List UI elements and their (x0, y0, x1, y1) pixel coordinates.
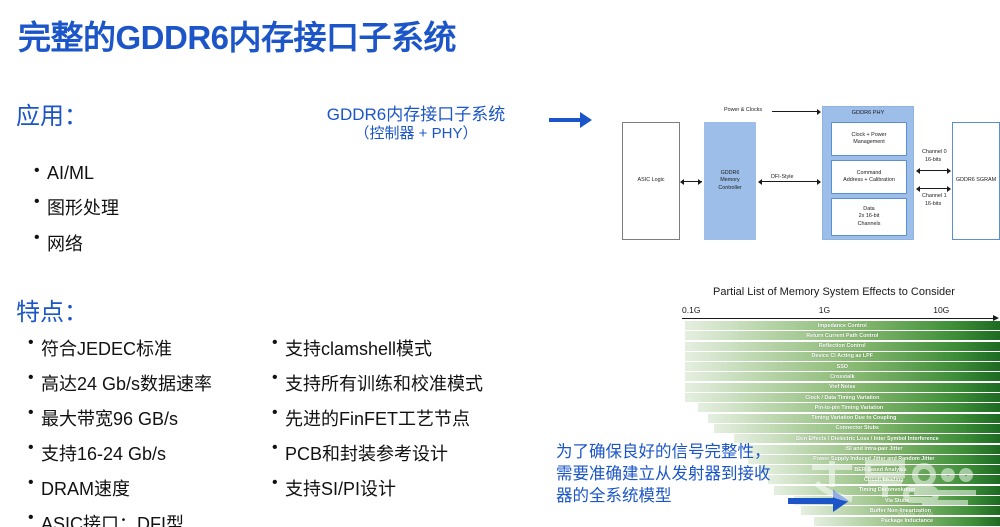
chart-axis-line (682, 318, 994, 319)
chart-bar-label: Circuit Loading (864, 477, 904, 483)
asic-controller-arrow-right-icon (698, 179, 702, 185)
list-item-label: 图形处理 (47, 194, 119, 220)
power-clocks-line (772, 111, 818, 112)
arrow-head (833, 490, 849, 512)
list-item: •DRAM速度 (28, 475, 212, 501)
slide-root: 完整的GDDR6内存接口子系统 应用： • AI/ML • 图形处理 • 网络 … (0, 0, 1000, 527)
asic-controller-arrow-left-icon (680, 179, 684, 185)
list-item: •先进的FinFET工艺节点 (272, 405, 483, 431)
bullet-icon: • (34, 230, 47, 247)
callout-arrow-icon (549, 112, 592, 128)
list-item-label: AI/ML (47, 163, 94, 184)
chart-bar-label: Connector Stubs (836, 425, 879, 431)
arrow-shaft (788, 498, 834, 504)
chart-bar: Impedance Control (685, 321, 1000, 330)
gddr6-phy-block: GDDR6 PHY Clock + Power Management Comma… (822, 106, 914, 240)
list-item: •支持16-24 Gb/s (28, 440, 212, 466)
list-item-label: 支持clamshell模式 (285, 335, 432, 361)
list-item-label: 支持SI/PI设计 (285, 475, 396, 501)
controller-phy-arrow-left-icon (758, 179, 762, 185)
list-item: •ASIC接口：DFI型 (28, 510, 212, 527)
gddr6-sgram-block: GDDR6 SGRAM (952, 122, 1000, 240)
chart-bar-label: Crosstalk (830, 374, 855, 380)
chart-bar-label: Pin-to-pin Timing Variation (815, 405, 883, 411)
list-item-label: 支持所有训练和校准模式 (285, 370, 483, 396)
list-item: • AI/ML (34, 163, 119, 184)
chart-bar-row: Device CI Acting as LPF (668, 352, 1000, 362)
memory-controller-label-2: Memory (720, 177, 739, 184)
bullet-icon: • (28, 370, 41, 387)
data-channels-block: Data 2x 16-bit Channels (831, 198, 907, 236)
bullet-icon: • (272, 370, 285, 387)
chart-bar-label: Via Stubs (885, 498, 909, 504)
chart-title: Partial List of Memory System Effects to… (668, 286, 1000, 298)
chart-bar-row: Reflection Control (668, 342, 1000, 352)
block-diagram: ASIC Logic GDDR6 Memory Controller GDDR6… (612, 100, 1000, 252)
chart-bar-row: SSO (668, 362, 1000, 372)
list-item-label: 高达24 Gb/s数据速率 (41, 370, 212, 396)
channel0-label-2: 16-bits (925, 157, 941, 164)
chart-bar-label: Timing Deconvolution (859, 487, 916, 493)
channel1-line (918, 188, 950, 189)
list-item: •支持所有训练和校准模式 (272, 370, 483, 396)
channel1-arrow-left-icon (916, 186, 920, 192)
command-address-calibration-block: Command Address + Calibration (831, 160, 907, 194)
channel0-line (918, 170, 950, 171)
chart-bar-label: Device CI Acting as LPF (812, 353, 874, 359)
signal-integrity-note: 为了确保良好的信号完整性，需要准确建立从发射器到接收器的全系统模型 (556, 442, 782, 508)
gddr6-sgram-label: GDDR6 SGRAM (956, 177, 996, 184)
chart-bar-label: Return Current Path Control (806, 333, 878, 339)
data-label-2: 2x 16-bit (859, 213, 880, 220)
bullet-icon: • (28, 475, 41, 492)
chart-bar: ISI and Intra-pair Jitter (748, 445, 1000, 454)
asic-logic-label: ASIC Logic (638, 177, 665, 184)
list-item: •符合JEDEC标准 (28, 335, 212, 361)
applications-heading: 应用： (16, 96, 88, 131)
chart-bar: Timing Variation Due to Coupling (708, 414, 1000, 423)
bullet-icon: • (28, 440, 41, 457)
chart-axis-ticks: 0.1G1G10G (682, 305, 1000, 318)
clock-power-management-block: Clock + Power Management (831, 122, 907, 156)
chart-bar: Device CI Acting as LPF (685, 352, 1000, 361)
page-title: 完整的GDDR6内存接口子系统 (18, 11, 456, 59)
list-item: • 图形处理 (34, 194, 119, 220)
chart-bar-row: Pin-to-pin Timing Variation (668, 403, 1000, 413)
bullet-icon: • (34, 194, 47, 211)
chart-bar-row: Vref Noise (668, 383, 1000, 393)
chart-bar-label: Buffer Non-linearization (870, 508, 931, 514)
channel0-arrow-left-icon (916, 168, 920, 174)
list-item: •PCB和封装参考设计 (272, 440, 483, 466)
power-clocks-arrow-icon (817, 109, 821, 115)
command-label-2: Address + Calibration (843, 177, 895, 184)
clock-power-label-2: Management (853, 139, 884, 146)
arrow-head (580, 112, 592, 128)
chart-bar: Pin-to-pin Timing Variation (698, 403, 1000, 412)
channel0-arrow-right-icon (947, 168, 951, 174)
list-item-label: 网络 (47, 230, 83, 256)
list-item: •支持SI/PI设计 (272, 475, 483, 501)
bullet-icon: • (272, 440, 285, 457)
channel0-label-1: Channel 0 (922, 149, 947, 156)
chart-tick-label: 0.1G (682, 305, 700, 315)
memory-controller-label-1: GDDR6 (721, 170, 740, 177)
list-item: • 网络 (34, 230, 119, 256)
arrow-shaft (549, 118, 581, 122)
chart-bar: Reflection Control (685, 342, 1000, 351)
chart-bar-label: BER-based Analysis (854, 467, 906, 473)
features-list-left: •符合JEDEC标准 •高达24 Gb/s数据速率 •最大带宽96 GB/s •… (28, 335, 212, 527)
asic-logic-block: ASIC Logic (622, 122, 680, 240)
bullet-icon: • (272, 405, 285, 422)
chart-bar-label: Power Supply Induced Jitter and Random J… (813, 456, 934, 462)
controller-phy-line (760, 181, 818, 182)
chart-bar: BER-based Analysis (761, 465, 1000, 474)
bullet-icon: • (28, 335, 41, 352)
chart-bar: Package Inductance (814, 517, 1000, 526)
chart-bar-label: Reflection Control (819, 343, 866, 349)
chart-bar: Clock / Data Timing Variation (685, 393, 1000, 402)
chart-bar-row: Package Inductance (668, 517, 1000, 527)
bullet-icon: • (34, 163, 47, 180)
channel1-arrow-right-icon (947, 186, 951, 192)
command-label-1: Command (857, 170, 882, 177)
memory-controller-block: GDDR6 Memory Controller (704, 122, 756, 240)
chart-bar-row: Impedance Control (668, 321, 1000, 331)
list-item-label: DRAM速度 (41, 475, 130, 501)
chart-bar-row: Crosstalk (668, 372, 1000, 382)
diagram-callout-line1: GDDR6内存接口子系统 (300, 105, 532, 125)
applications-list: • AI/ML • 图形处理 • 网络 (34, 163, 119, 266)
chart-bar-label: Skin Effects / Dielectric Loss / Inter S… (796, 436, 939, 442)
chart-bar: SSO (685, 362, 1000, 371)
chart-bar-label: Vref Noise (829, 384, 855, 390)
chart-bar: Crosstalk (685, 372, 1000, 381)
list-item-label: 符合JEDEC标准 (41, 335, 172, 361)
si-note-arrow-icon (788, 490, 849, 512)
chart-bar-label: Impedance Control (818, 323, 867, 329)
chart-bar: Power Supply Induced Jitter and Random J… (748, 455, 1000, 464)
chart-bar-label: Clock / Data Timing Variation (805, 395, 879, 401)
chart-bar-row: Connector Stubs (668, 424, 1000, 434)
channel1-label-2: 16-bits (925, 201, 941, 208)
list-item: •高达24 Gb/s数据速率 (28, 370, 212, 396)
chart-bar: Circuit Loading (768, 475, 1000, 484)
list-item: •支持clamshell模式 (272, 335, 483, 361)
list-item-label: ASIC接口：DFI型 (41, 510, 184, 527)
bullet-icon: • (28, 510, 41, 527)
chart-bar-row: Return Current Path Control (668, 331, 1000, 341)
chart-tick-label: 10G (933, 305, 949, 315)
power-clocks-label: Power & Clocks (724, 107, 762, 114)
dfi-style-label: DFI-Style (771, 174, 793, 181)
chart-bar: Return Current Path Control (685, 331, 1000, 340)
chart-bar-row: Timing Variation Due to Coupling (668, 414, 1000, 424)
bullet-icon: • (272, 475, 285, 492)
data-label-3: Channels (858, 221, 881, 228)
list-item: •最大带宽96 GB/s (28, 405, 212, 431)
clock-power-label-1: Clock + Power (852, 132, 887, 139)
diagram-callout: GDDR6内存接口子系统 （控制器 + PHY） (300, 105, 532, 143)
chart-bar-label: ISI and Intra-pair Jitter (845, 446, 902, 452)
chart-tick-label: 1G (819, 305, 830, 315)
gddr6-phy-title: GDDR6 PHY (823, 110, 913, 118)
chart-bar-label: Timing Variation Due to Coupling (811, 415, 896, 421)
bullet-icon: • (272, 335, 285, 352)
features-list-right: •支持clamshell模式 •支持所有训练和校准模式 •先进的FinFET工艺… (272, 335, 483, 510)
chart-bar: Vref Noise (685, 383, 1000, 392)
list-item-label: 最大带宽96 GB/s (41, 405, 178, 431)
bullet-icon: • (28, 405, 41, 422)
list-item-label: 先进的FinFET工艺节点 (285, 405, 470, 431)
list-item-label: 支持16-24 Gb/s (41, 440, 166, 466)
features-heading: 特点： (16, 292, 88, 327)
chart-bar-row: Clock / Data Timing Variation (668, 393, 1000, 403)
controller-phy-arrow-right-icon (817, 179, 821, 185)
memory-controller-label-3: Controller (718, 185, 741, 192)
chart-bar: Connector Stubs (714, 424, 1000, 433)
list-item-label: PCB和封装参考设计 (285, 440, 448, 466)
chart-bar-label: SSO (837, 364, 848, 370)
diagram-callout-line2: （控制器 + PHY） (300, 125, 532, 143)
data-label-1: Data (863, 206, 874, 213)
channel1-label-1: Channel 1 (922, 193, 947, 200)
chart-bar-label: Package Inductance (881, 518, 933, 524)
